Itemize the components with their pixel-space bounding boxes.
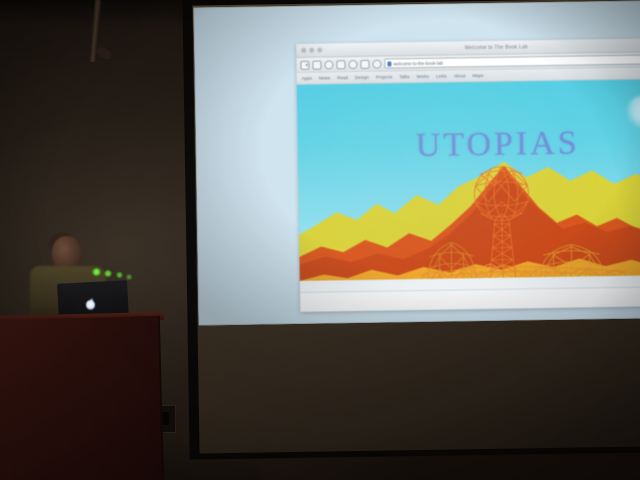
window-title: Welcome to The Book Lab <box>464 44 527 51</box>
indicator-light-icon <box>104 270 112 277</box>
bookmark-icon[interactable] <box>372 59 381 68</box>
close-button[interactable] <box>301 48 306 53</box>
bookmark-item[interactable]: Maps <box>472 73 483 78</box>
indicator-light-icon <box>116 272 123 278</box>
indicator-light-icon <box>126 274 132 280</box>
home-icon[interactable] <box>348 59 357 68</box>
reload-icon[interactable] <box>324 60 333 69</box>
bookmark-item[interactable]: Read <box>337 75 348 80</box>
ground-plane <box>300 275 640 312</box>
browser-window[interactable]: Welcome to The Book Lab welcome-to-the-b… <box>296 38 640 312</box>
apple-logo-icon <box>86 300 96 310</box>
bookmark-item[interactable]: Talks <box>399 74 409 79</box>
bookmark-item[interactable]: Links <box>436 74 447 79</box>
forward-icon[interactable] <box>312 60 321 69</box>
bookmark-item[interactable]: About <box>454 73 466 78</box>
bookmark-item[interactable]: Apps <box>302 76 312 81</box>
bookmark-item[interactable]: Design <box>355 75 369 80</box>
minimize-button[interactable] <box>309 48 314 53</box>
sidebar-icon[interactable] <box>336 60 345 69</box>
projected-image: Welcome to The Book Lab welcome-to-the-b… <box>194 0 640 325</box>
zoom-button[interactable] <box>317 48 322 53</box>
bookmark-item[interactable]: News <box>319 75 330 80</box>
window-controls[interactable] <box>301 48 322 53</box>
address-value[interactable]: welcome-to-the-book-lab <box>393 60 443 66</box>
back-icon[interactable] <box>300 60 309 69</box>
webpage-content: UTOPIAS <box>297 79 640 312</box>
photograph-scene: Welcome to The Book Lab welcome-to-the-b… <box>0 0 640 480</box>
indicator-light-icon <box>92 268 101 276</box>
podium <box>0 316 164 480</box>
address-bar[interactable]: welcome-to-the-book-lab <box>384 54 640 68</box>
lock-icon <box>387 61 391 66</box>
bookmark-item[interactable]: Works <box>416 74 429 79</box>
bookmark-item[interactable]: Projects <box>376 74 392 79</box>
share-icon[interactable] <box>360 59 369 68</box>
